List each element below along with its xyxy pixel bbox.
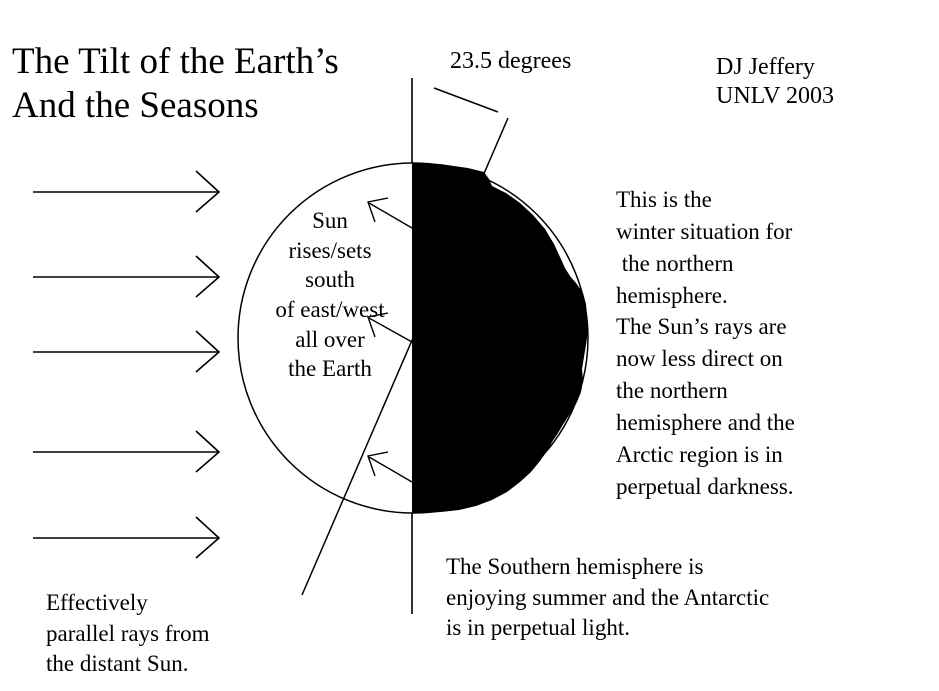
- page-title-line-1: The Tilt of the Earth’s: [12, 41, 339, 82]
- sun-ray-1: [33, 171, 219, 212]
- earth-night-side: [412, 163, 588, 513]
- northern-winter-note: This is the winter situation for the nor…: [616, 184, 795, 502]
- diagram-canvas: The Tilt of the Earth’sAnd the Seasons 2…: [0, 0, 939, 691]
- tilt-angle-label: 23.5 degrees: [450, 48, 571, 75]
- sun-ray-2: [33, 256, 219, 297]
- author-name: DJ Jeffery: [716, 54, 815, 80]
- sun-ray-4: [33, 431, 219, 472]
- tilt-angle-leader-line: [434, 88, 498, 112]
- author-affiliation-year: UNLV 2003: [716, 83, 834, 109]
- parallel-rays-note: Effectively parallel rays from the dista…: [46, 588, 209, 680]
- sun-ray-3: [33, 331, 219, 372]
- sun-ray-group: [33, 171, 219, 558]
- page-title: The Tilt of the Earth’sAnd the Seasons: [12, 40, 339, 127]
- southern-summer-note: The Southern hemisphere is enjoying summ…: [446, 552, 769, 644]
- author-credit: DJ JefferyUNLV 2003: [716, 53, 834, 111]
- globe-inner-note: Sun rises/sets south of east/west all ov…: [240, 206, 420, 384]
- sun-ray-5: [33, 517, 219, 558]
- page-title-line-2: And the Seasons: [12, 85, 259, 126]
